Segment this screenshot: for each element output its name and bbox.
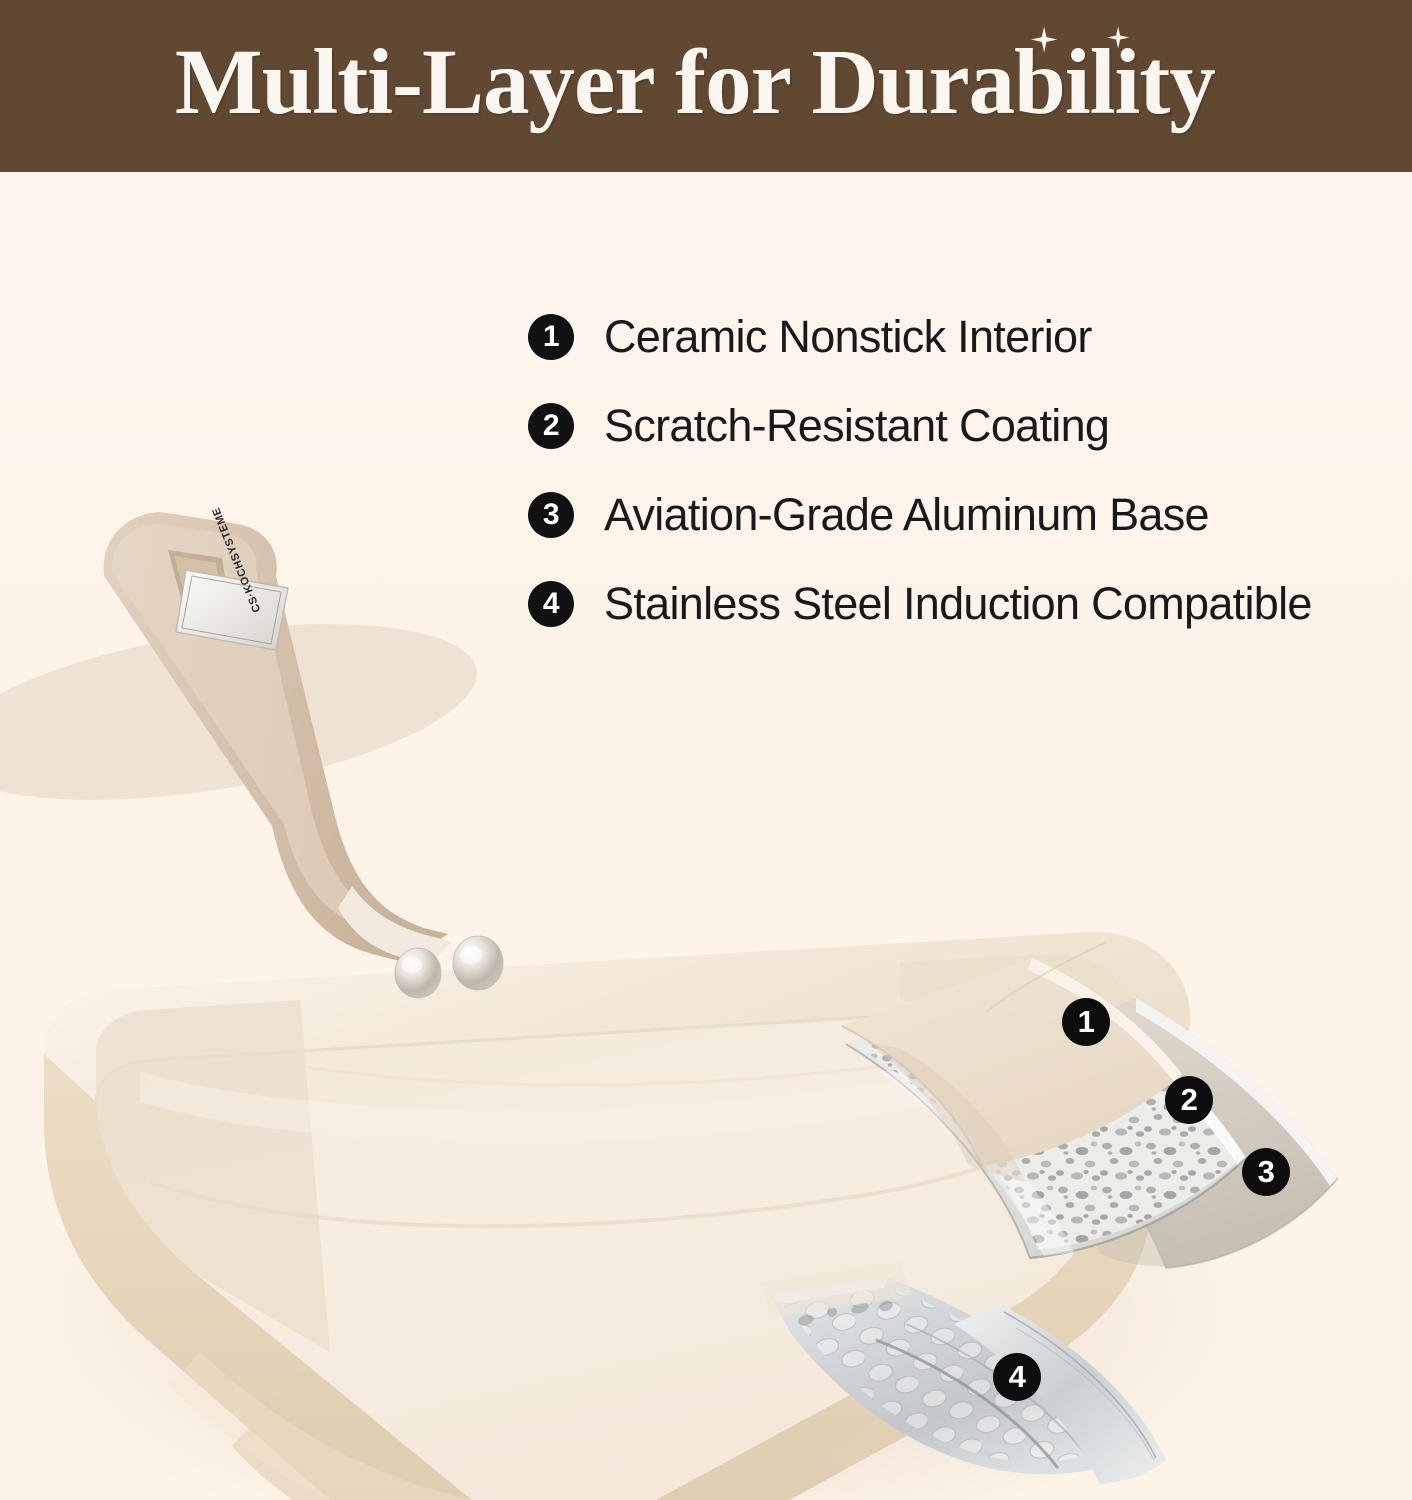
feature-item-1: 1 Ceramic Nonstick Interior <box>528 292 1388 381</box>
pan-callout-2: 2 <box>1165 1076 1213 1124</box>
feature-item-4: 4 Stainless Steel Induction Compatible <box>528 559 1388 648</box>
feature-badge-3: 3 <box>528 492 574 538</box>
feature-item-2: 2 Scratch-Resistant Coating <box>528 381 1388 470</box>
page-title: Multi-Layer for Durability <box>175 36 1237 129</box>
header-banner: Multi-Layer for Durability <box>0 0 1412 172</box>
feature-item-3: 3 Aviation-Grade Aluminum Base <box>528 470 1388 559</box>
feature-badge-1: 1 <box>528 314 574 360</box>
feature-list: 1 Ceramic Nonstick Interior 2 Scratch-Re… <box>528 292 1388 648</box>
feature-badge-2: 2 <box>528 403 574 449</box>
pan-callout-1: 1 <box>1062 998 1110 1046</box>
feature-badge-4: 4 <box>528 581 574 627</box>
page-title-text: Multi-Layer for Durability <box>175 31 1215 134</box>
content-area: CS·KOCHSYSTEME 1 2 3 4 1 Ceramic Nonstic… <box>0 172 1412 1500</box>
feature-label-2: Scratch-Resistant Coating <box>604 403 1109 448</box>
feature-label-4: Stainless Steel Induction Compatible <box>604 581 1312 626</box>
feature-label-3: Aviation-Grade Aluminum Base <box>604 492 1209 537</box>
pan-callout-3: 3 <box>1242 1148 1290 1196</box>
feature-label-1: Ceramic Nonstick Interior <box>604 314 1092 359</box>
pan-callout-4: 4 <box>993 1353 1041 1401</box>
infographic-page: Multi-Layer for Durability <box>0 0 1412 1500</box>
